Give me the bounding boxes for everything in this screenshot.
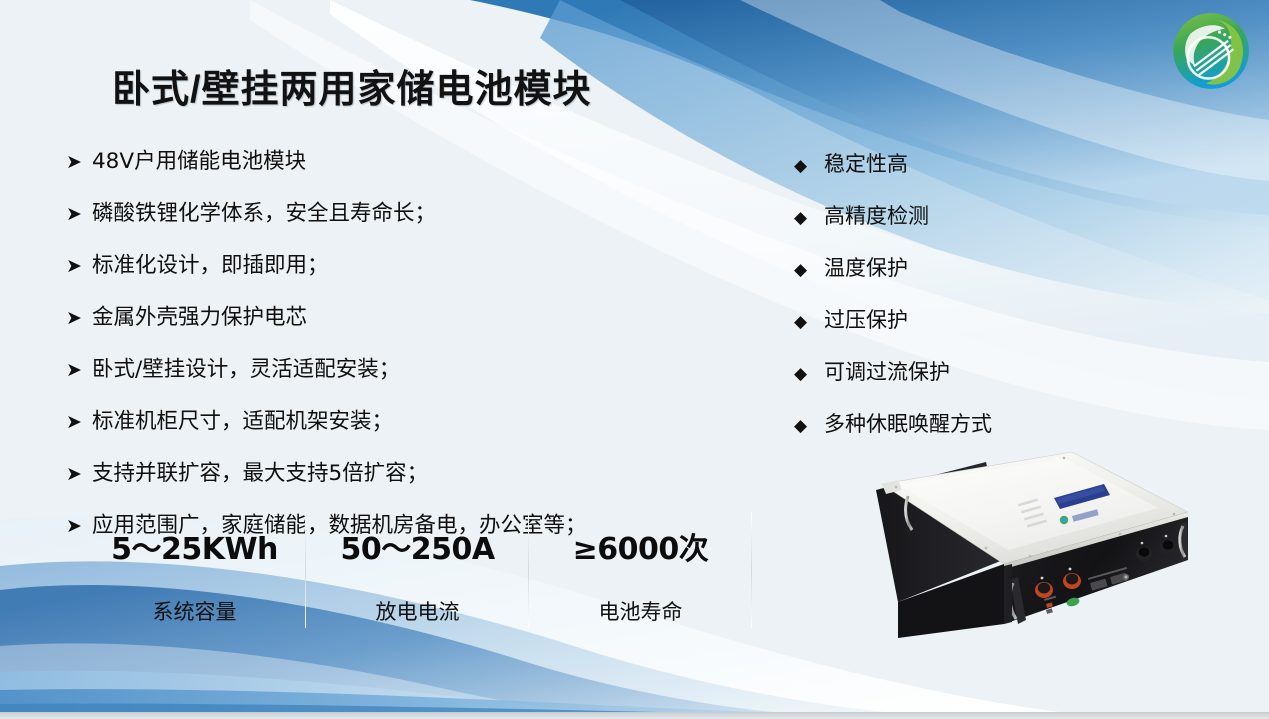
diamond-bullet-icon: ◆	[794, 261, 824, 278]
diamond-bullet-icon: ◆	[794, 365, 824, 382]
list-item: ◆ 温度保护	[794, 256, 1154, 299]
list-item-label: 48V户用储能电池模块	[92, 150, 306, 175]
list-item-label: 多种休眠唤醒方式	[824, 412, 992, 436]
arrow-bullet-icon: ➤	[66, 205, 92, 224]
arrow-bullet-icon: ➤	[66, 309, 92, 328]
list-item-label: 卧式/壁挂设计，灵活适配安装；	[92, 358, 400, 383]
list-item-label: 支持并联扩容，最大支持5倍扩容；	[92, 462, 428, 487]
list-item: ◆ 高精度检测	[794, 204, 1154, 247]
stat-cell-current: 50～250A 放电电流	[306, 512, 529, 628]
list-item: ➤ 支持并联扩容，最大支持5倍扩容；	[66, 462, 726, 505]
slide-canvas: 卧式/壁挂两用家储电池模块 ➤ 48V户用储能电池模块 ➤ 磷酸铁锂化学体系，安…	[0, 0, 1269, 719]
arrow-bullet-icon: ➤	[66, 153, 92, 172]
list-item: ◆ 稳定性高	[794, 152, 1154, 195]
arrow-bullet-icon: ➤	[66, 361, 92, 380]
diamond-bullet-icon: ◆	[794, 417, 824, 434]
list-item: ◆ 过压保护	[794, 308, 1154, 351]
stat-value: 5～25KWh	[111, 524, 278, 568]
list-item: ➤ 标准化设计，即插即用；	[66, 254, 726, 297]
spec-highlights: 5～25KWh 系统容量 50～250A 放电电流 ≥6000次 电池寿命	[83, 512, 752, 628]
list-item-label: 温度保护	[824, 256, 908, 280]
arrow-bullet-icon: ➤	[66, 257, 92, 276]
stat-cell-cycle-life: ≥6000次 电池寿命	[529, 512, 752, 628]
list-item: ◆ 可调过流保护	[794, 360, 1154, 403]
arrow-bullet-icon: ➤	[66, 413, 92, 432]
stat-label: 放电电流	[376, 596, 460, 626]
stat-label: 电池寿命	[599, 596, 683, 626]
company-logo	[1168, 8, 1254, 94]
stat-label: 系统容量	[153, 596, 237, 626]
list-item-label: 磷酸铁锂化学体系，安全且寿命长；	[92, 202, 436, 227]
list-item-label: 可调过流保护	[824, 360, 950, 384]
diamond-bullet-icon: ◆	[794, 157, 824, 174]
diamond-bullet-icon: ◆	[794, 209, 824, 226]
stat-value: ≥6000次	[573, 524, 709, 568]
list-item: ➤ 金属外壳强力保护电芯	[66, 306, 726, 349]
list-item-label: 金属外壳强力保护电芯	[92, 306, 307, 331]
product-photo-battery-module	[858, 438, 1198, 663]
list-item: ➤ 磷酸铁锂化学体系，安全且寿命长；	[66, 202, 726, 245]
feature-list-right: ◆ 稳定性高 ◆ 高精度检测 ◆ 温度保护 ◆ 过压保护 ◆ 可调过流保护 ◆ …	[794, 152, 1154, 464]
arrow-bullet-icon: ➤	[66, 465, 92, 484]
list-item-label: 过压保护	[824, 308, 908, 332]
list-item: ➤ 标准机柜尺寸，适配机架安装；	[66, 410, 726, 453]
list-item-label: 高精度检测	[824, 204, 929, 228]
list-item-label: 标准机柜尺寸，适配机架安装；	[92, 410, 393, 435]
list-item: ➤ 卧式/壁挂设计，灵活适配安装；	[66, 358, 726, 401]
feature-list-left: ➤ 48V户用储能电池模块 ➤ 磷酸铁锂化学体系，安全且寿命长； ➤ 标准化设计…	[66, 150, 726, 566]
list-item: ➤ 48V户用储能电池模块	[66, 150, 726, 193]
list-item-label: 稳定性高	[824, 152, 908, 176]
stat-cell-capacity: 5～25KWh 系统容量	[83, 512, 306, 628]
diamond-bullet-icon: ◆	[794, 313, 824, 330]
page-title: 卧式/壁挂两用家储电池模块	[112, 58, 592, 113]
slide-footer-edge	[0, 712, 1269, 719]
stat-value: 50～250A	[340, 524, 494, 568]
list-item-label: 标准化设计，即插即用；	[92, 254, 329, 279]
